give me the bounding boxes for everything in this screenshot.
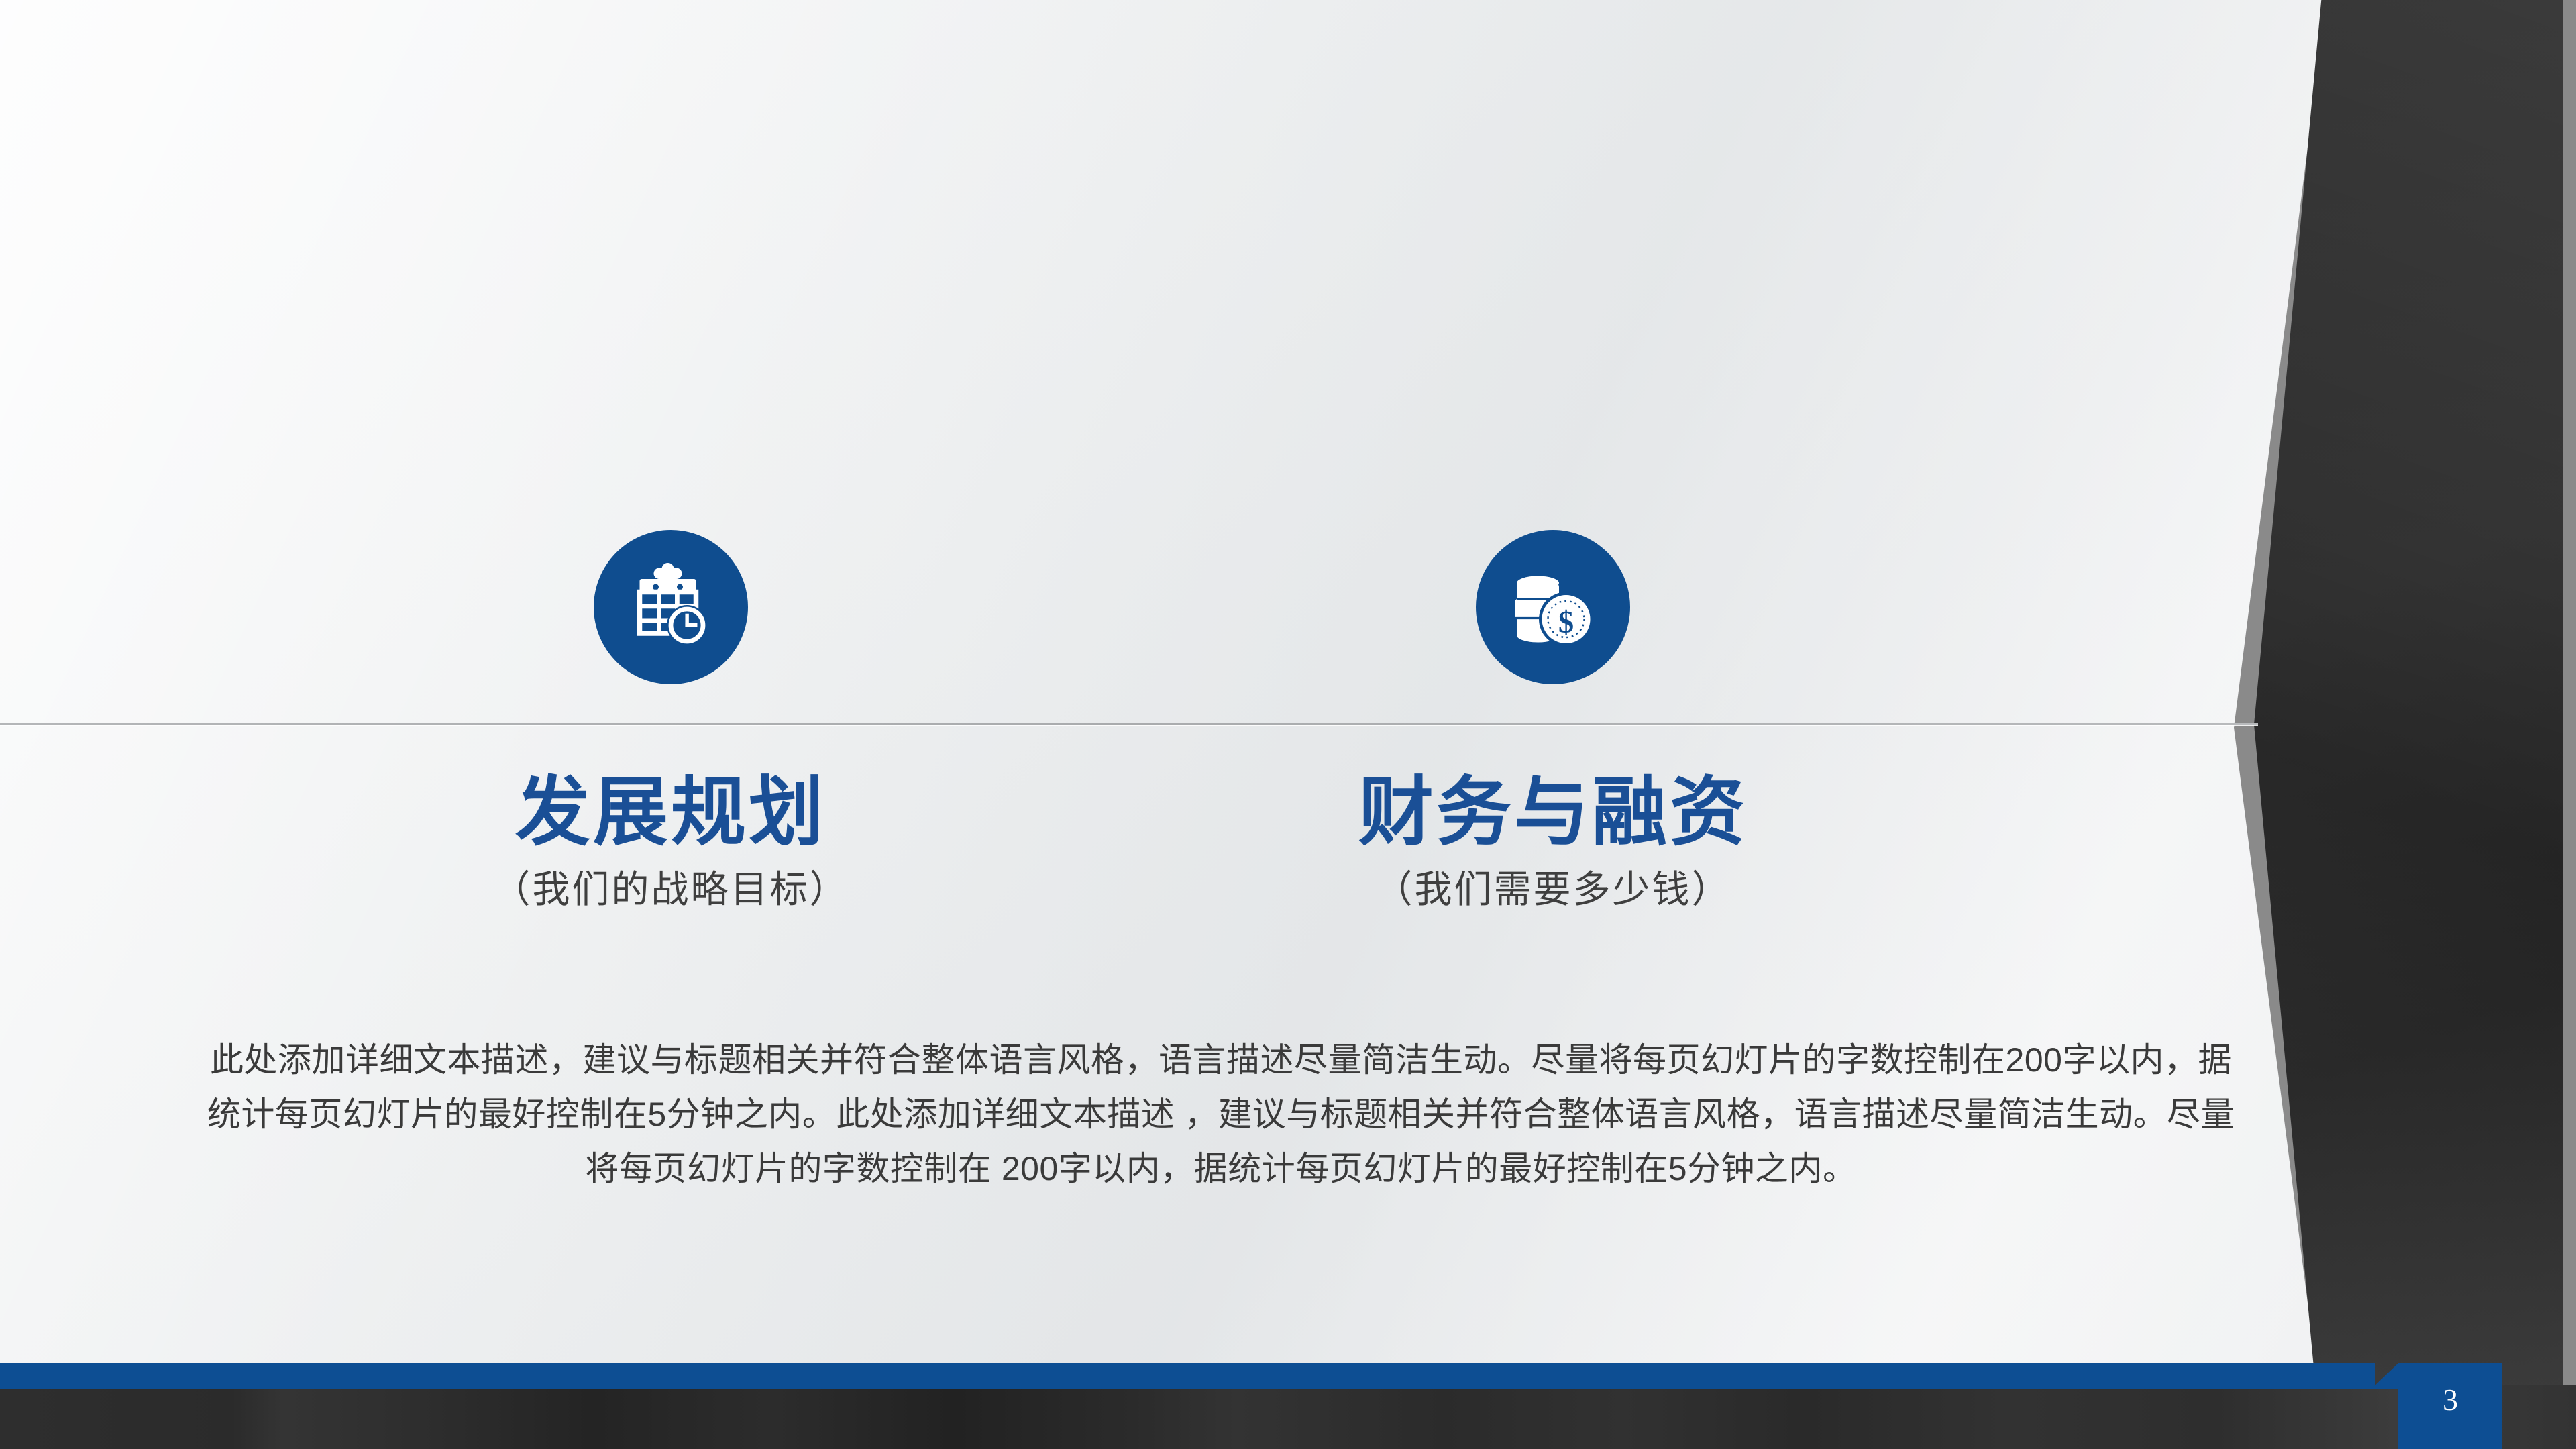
chevron-gloss-overlay xyxy=(2254,0,2563,1449)
footer-blue-bar xyxy=(0,1363,2375,1389)
page-number-label: 3 xyxy=(2443,1385,2458,1428)
card-finance-funding[interactable]: $ 财务与融资 （我们需要多少钱） xyxy=(1171,530,1935,912)
slide-canvas: 发展规划 （我们的战略目标） xyxy=(0,0,2576,1449)
chevron-inner-shape xyxy=(2254,0,2563,1449)
card-subtitle: （我们需要多少钱） xyxy=(1171,867,1935,912)
body-paragraph: 此处添加详细文本描述，建议与标题相关并符合整体语言风格，语言描述尽量简洁生动。尽… xyxy=(195,1033,2247,1196)
svg-text:$: $ xyxy=(1558,606,1574,640)
card-subtitle: （我们的战略目标） xyxy=(288,867,1053,912)
page-badge-notch xyxy=(2371,1363,2398,1389)
page-number-badge: 3 xyxy=(2398,1363,2502,1449)
coins-dollar-icon: $ xyxy=(1476,530,1630,684)
calendar-clock-icon xyxy=(594,530,748,684)
card-title: 发展规划 xyxy=(288,773,1053,852)
chevron-decoration xyxy=(2227,0,2576,1449)
card-development-plan[interactable]: 发展规划 （我们的战略目标） xyxy=(288,530,1053,912)
chevron-outer-shape xyxy=(2234,0,2576,1449)
footer-dark-band xyxy=(0,1385,2576,1449)
card-title: 财务与融资 xyxy=(1171,773,1935,852)
